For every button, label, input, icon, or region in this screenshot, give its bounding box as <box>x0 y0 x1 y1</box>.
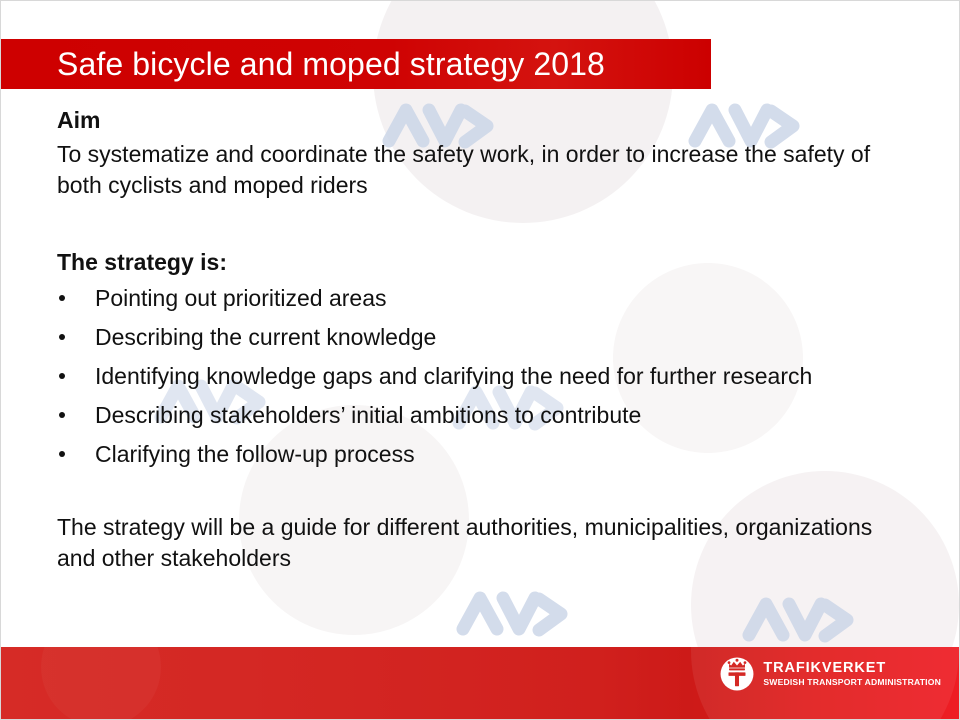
slide-body: Aim To systematize and coordinate the sa… <box>57 105 913 574</box>
list-item-label: Describing the current knowledge <box>95 324 436 350</box>
chevron-av-watermark-icon <box>739 591 857 651</box>
aim-text: To systematize and coordinate the safety… <box>57 139 902 201</box>
bullet-dot-icon <box>59 412 65 418</box>
list-item-label: Describing stakeholders’ initial ambitio… <box>95 402 641 428</box>
chevron-av-watermark-icon <box>453 585 571 645</box>
slide-footer: TRAFIKVERKET SWEDISH TRANSPORT ADMINISTR… <box>1 647 959 719</box>
list-item: Pointing out prioritized areas <box>57 283 895 314</box>
trafikverket-logo: TRAFIKVERKET SWEDISH TRANSPORT ADMINISTR… <box>720 657 941 691</box>
bullet-dot-icon <box>59 373 65 379</box>
bullet-dot-icon <box>59 334 65 340</box>
list-item-label: Clarifying the follow-up process <box>95 441 415 467</box>
strategy-bullet-list: Pointing out prioritized areas Describin… <box>57 283 913 470</box>
list-item: Identifying knowledge gaps and clarifyin… <box>57 361 895 392</box>
logo-name: TRAFIKVERKET <box>763 661 941 676</box>
crown-shield-icon <box>720 657 754 691</box>
list-item-label: Pointing out prioritized areas <box>95 285 387 311</box>
closing-text: The strategy will be a guide for differe… <box>57 512 902 574</box>
slide-title-bar: Safe bicycle and moped strategy 2018 <box>1 39 711 89</box>
list-item: Clarifying the follow-up process <box>57 439 895 470</box>
logo-wordmark: TRAFIKVERKET SWEDISH TRANSPORT ADMINISTR… <box>763 661 941 687</box>
aim-heading: Aim <box>57 105 913 135</box>
list-item-label: Identifying knowledge gaps and clarifyin… <box>95 363 812 389</box>
spacer <box>57 201 913 247</box>
bullet-dot-icon <box>59 295 65 301</box>
spacer <box>57 478 913 512</box>
bullet-dot-icon <box>59 451 65 457</box>
page-title: Safe bicycle and moped strategy 2018 <box>57 48 605 80</box>
logo-subtitle: SWEDISH TRANSPORT ADMINISTRATION <box>763 678 941 687</box>
list-item: Describing stakeholders’ initial ambitio… <box>57 400 895 431</box>
list-item: Describing the current knowledge <box>57 322 895 353</box>
presentation-slide: Safe bicycle and moped strategy 2018 Aim… <box>0 0 960 720</box>
strategy-heading: The strategy is: <box>57 247 913 277</box>
